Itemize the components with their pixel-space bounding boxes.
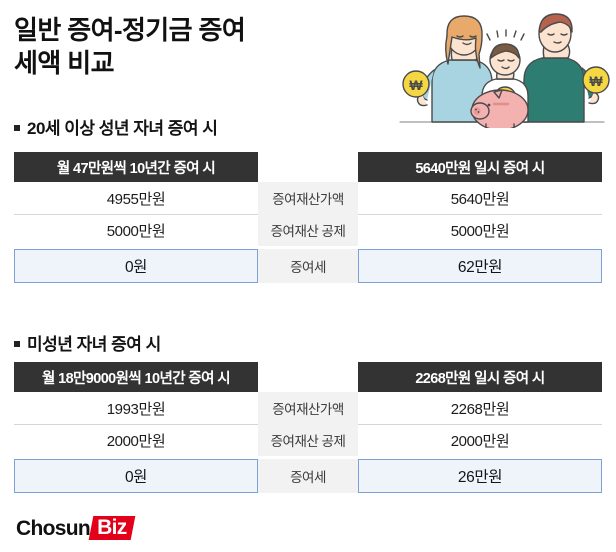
bullet-square-icon bbox=[14, 341, 20, 347]
value-right: 2000만원 bbox=[358, 424, 602, 456]
value-right-highlight: 26만원 bbox=[358, 459, 602, 493]
table-row: 1993만원 증여재산가액 2268만원 bbox=[14, 392, 602, 424]
row-label: 증여재산가액 bbox=[258, 392, 358, 424]
infographic-page: 일반 증여-정기금 증여 세액 비교 ₩ bbox=[0, 0, 616, 552]
value-left: 2000만원 bbox=[14, 424, 258, 456]
header-lumpsum-gift-minor: 2268만원 일시 증여 시 bbox=[358, 362, 602, 392]
comparison-table-adult: 월 47만원씩 10년간 증여 시 5640만원 일시 증여 시 4955만원 … bbox=[14, 152, 602, 283]
table-row: 2000만원 증여재산 공제 2000만원 bbox=[14, 424, 602, 456]
table-header-row: 월 47만원씩 10년간 증여 시 5640만원 일시 증여 시 bbox=[14, 152, 602, 182]
value-left: 5000만원 bbox=[14, 214, 258, 246]
row-label: 증여재산 공제 bbox=[258, 214, 358, 246]
table-row-highlight: 0원 증여세 26만원 bbox=[14, 459, 602, 493]
logo-text-chosun: Chosun bbox=[16, 518, 90, 539]
comparison-table-minor: 월 18만9000원씩 10년간 증여 시 2268만원 일시 증여 시 199… bbox=[14, 362, 602, 493]
value-right: 5000만원 bbox=[358, 214, 602, 246]
family-piggy-bank-illustration: ₩ ₩ bbox=[394, 10, 610, 128]
value-left: 4955만원 bbox=[14, 182, 258, 214]
header-periodic-gift-minor: 월 18만9000원씩 10년간 증여 시 bbox=[14, 362, 258, 392]
table-row: 5000만원 증여재산 공제 5000만원 bbox=[14, 214, 602, 246]
table-header-row: 월 18만9000원씩 10년간 증여 시 2268만원 일시 증여 시 bbox=[14, 362, 602, 392]
row-label: 증여재산 공제 bbox=[258, 424, 358, 456]
value-right-highlight: 62만원 bbox=[358, 249, 602, 283]
table-row: 4955만원 증여재산가액 5640만원 bbox=[14, 182, 602, 214]
value-left-highlight: 0원 bbox=[14, 249, 258, 283]
chosunbiz-logo: Chosun Biz bbox=[16, 516, 133, 540]
row-label: 증여재산가액 bbox=[258, 182, 358, 214]
section-heading-minor-label: 미성년 자녀 증여 시 bbox=[27, 330, 161, 355]
row-label: 증여세 bbox=[258, 459, 358, 493]
section-heading-adult: 20세 이상 성년 자녀 증여 시 bbox=[14, 114, 217, 139]
page-title-line-2: 세액 비교 bbox=[14, 47, 404, 80]
value-left: 1993만원 bbox=[14, 392, 258, 424]
page-title-line-1: 일반 증여-정기금 증여 bbox=[14, 14, 404, 47]
section-heading-minor: 미성년 자녀 증여 시 bbox=[14, 330, 161, 355]
value-left-highlight: 0원 bbox=[14, 459, 258, 493]
section-heading-adult-label: 20세 이상 성년 자녀 증여 시 bbox=[27, 114, 217, 139]
svg-text:₩: ₩ bbox=[409, 77, 423, 93]
svg-text:₩: ₩ bbox=[589, 73, 603, 89]
header-lumpsum-gift-adult: 5640만원 일시 증여 시 bbox=[358, 152, 602, 182]
table-row-highlight: 0원 증여세 62만원 bbox=[14, 249, 602, 283]
value-right: 5640만원 bbox=[358, 182, 602, 214]
bullet-square-icon bbox=[14, 125, 20, 131]
row-label: 증여세 bbox=[258, 249, 358, 283]
page-title: 일반 증여-정기금 증여 세액 비교 bbox=[14, 14, 404, 81]
logo-biz-badge: Biz bbox=[89, 516, 136, 540]
value-right: 2268만원 bbox=[358, 392, 602, 424]
logo-text-biz: Biz bbox=[97, 517, 126, 538]
header-periodic-gift-adult: 월 47만원씩 10년간 증여 시 bbox=[14, 152, 258, 182]
header-spacer bbox=[258, 362, 358, 392]
header-spacer bbox=[258, 152, 358, 182]
